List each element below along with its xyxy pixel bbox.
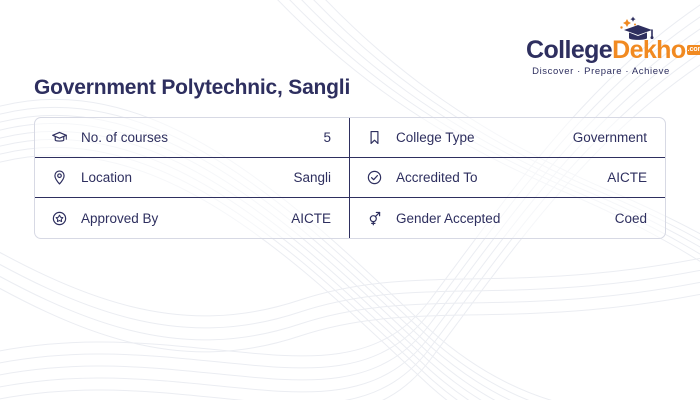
info-value: AICTE bbox=[291, 211, 331, 226]
logo-tld-badge: .com bbox=[687, 45, 700, 55]
college-info-table: No. of courses 5 College Type Government… bbox=[34, 117, 666, 239]
info-value: AICTE bbox=[607, 170, 647, 185]
page-root: CollegeDekho.com Discover · Prepare · Ac… bbox=[0, 0, 700, 400]
logo-text-college: College bbox=[526, 36, 612, 64]
info-label: Gender Accepted bbox=[396, 211, 615, 226]
award-badge-icon bbox=[51, 210, 68, 227]
info-cell-approved-by: Approved By AICTE bbox=[35, 198, 350, 238]
collegedekho-logo[interactable]: CollegeDekho.com Discover · Prepare · Ac… bbox=[526, 22, 676, 77]
info-value: Government bbox=[573, 130, 647, 145]
info-label: No. of courses bbox=[81, 130, 323, 145]
info-label: Approved By bbox=[81, 211, 291, 226]
info-value: 5 bbox=[323, 130, 331, 145]
logo-tagline: Discover · Prepare · Achieve bbox=[526, 67, 676, 77]
page-title: Government Polytechnic, Sangli bbox=[34, 76, 350, 100]
info-cell-no-of-courses: No. of courses 5 bbox=[35, 118, 350, 158]
info-label: College Type bbox=[396, 130, 573, 145]
info-cell-gender-accepted: Gender Accepted Coed bbox=[350, 198, 665, 238]
info-value: Coed bbox=[615, 211, 647, 226]
info-label: Location bbox=[81, 170, 293, 185]
check-circle-icon bbox=[366, 169, 383, 186]
info-cell-location: Location Sangli bbox=[35, 158, 350, 198]
info-value: Sangli bbox=[293, 170, 331, 185]
bookmark-icon bbox=[366, 129, 383, 146]
graduation-cap-icon bbox=[614, 16, 660, 44]
info-cell-accredited-to: Accredited To AICTE bbox=[350, 158, 665, 198]
gender-icon bbox=[366, 210, 383, 227]
graduation-cap-icon bbox=[51, 129, 68, 146]
info-cell-college-type: College Type Government bbox=[350, 118, 665, 158]
map-pin-icon bbox=[51, 169, 68, 186]
info-label: Accredited To bbox=[396, 170, 607, 185]
